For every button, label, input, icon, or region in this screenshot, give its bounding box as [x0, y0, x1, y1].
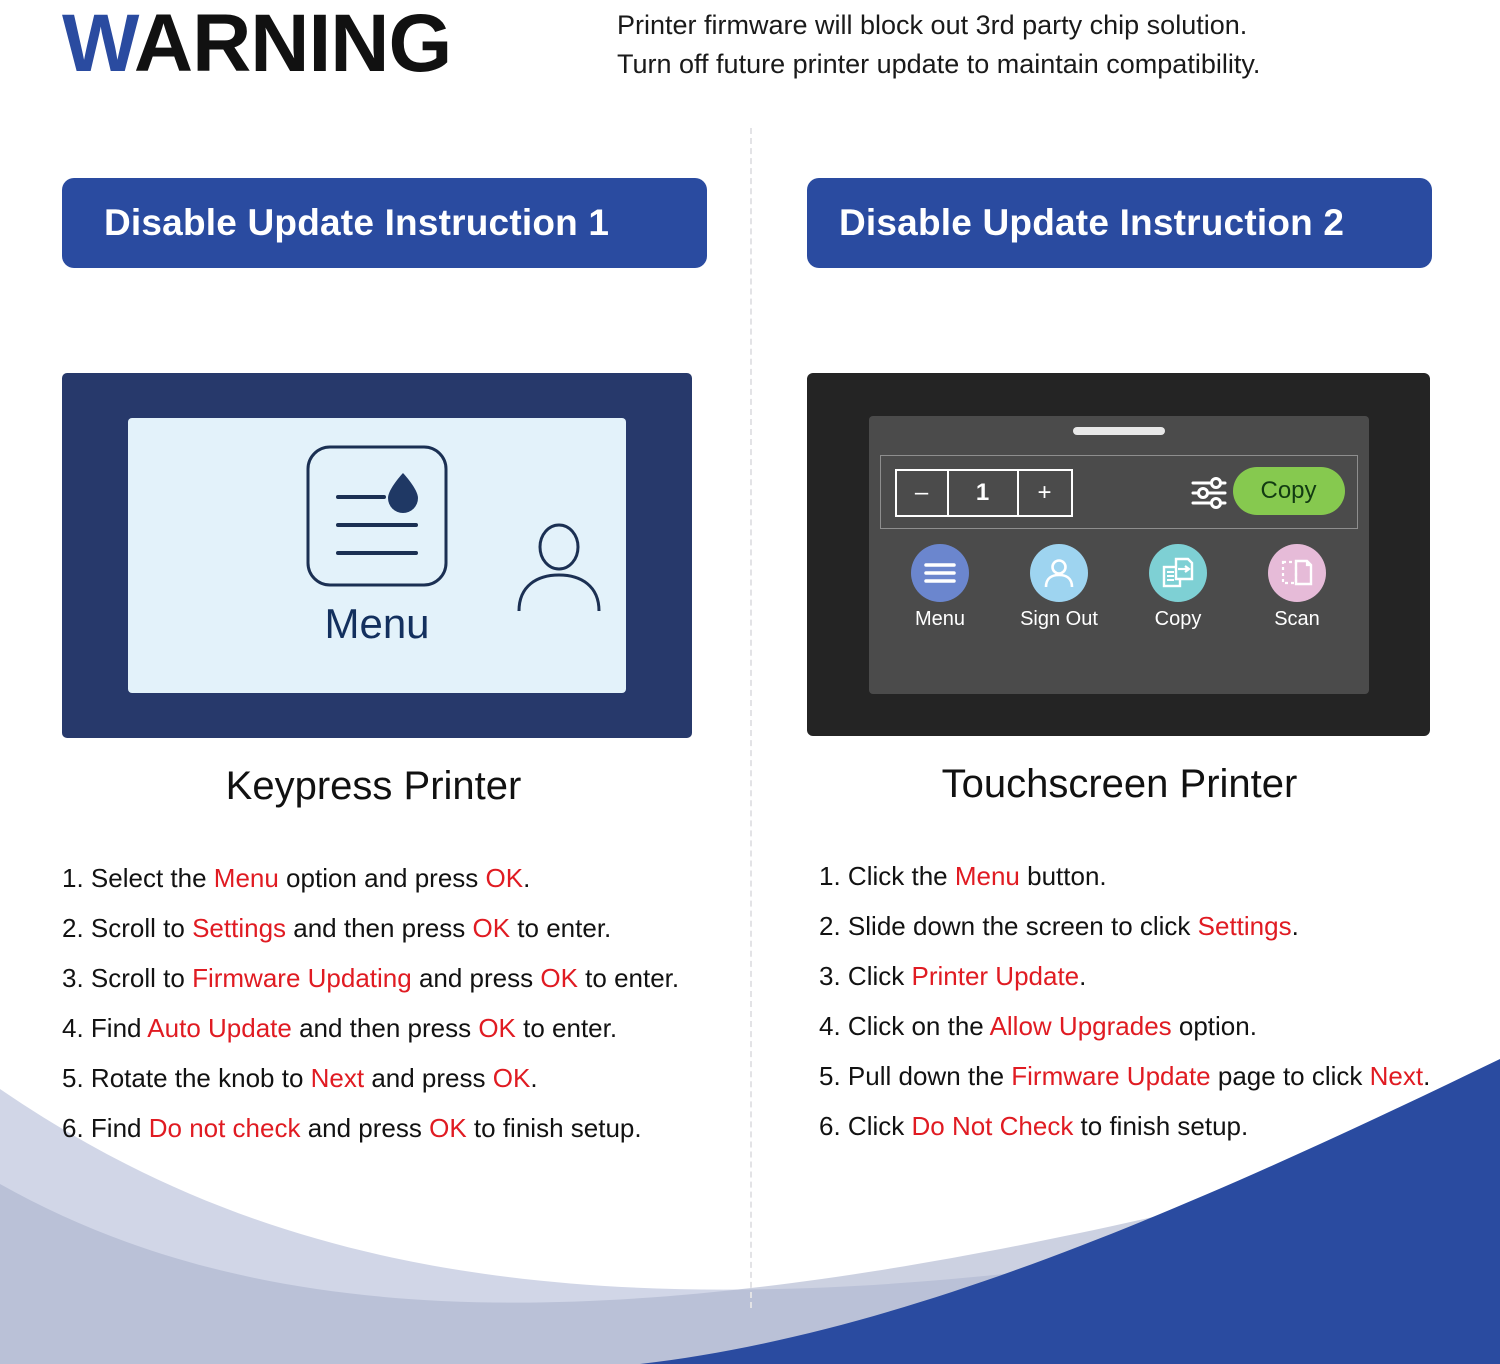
hamburger-menu-icon[interactable] — [911, 544, 969, 602]
warning-title-rest: ARNING — [134, 0, 451, 89]
instruction-text: and press — [364, 1063, 493, 1093]
instruction-text: to finish setup. — [1073, 1111, 1248, 1141]
touchscreen-printer-illustration: – 1 + — [807, 373, 1430, 736]
instruction-text: Rotate the knob to — [91, 1063, 311, 1093]
instruction-text: Select the — [91, 863, 214, 893]
instruction-keyword: Do Not Check — [911, 1111, 1073, 1141]
app-button-sign-out[interactable]: Sign Out — [1006, 544, 1112, 631]
instruction-step-number: 4. — [62, 1013, 91, 1043]
page-header: WARNING Printer firmware will block out … — [0, 0, 1500, 110]
warning-title-first-letter: W — [62, 0, 134, 89]
instruction-text: option and press — [279, 863, 486, 893]
instruction-text: to enter. — [578, 963, 679, 993]
instruction-text: . — [1079, 961, 1086, 991]
touchscreen-printer-caption: Touchscreen Printer — [807, 762, 1432, 807]
banner-instruction-1-label: Disable Update Instruction 1 — [104, 202, 609, 244]
instruction-text: to finish setup. — [467, 1113, 642, 1143]
app-button-scan-label: Scan — [1244, 608, 1350, 631]
instruction-list-2: 1. Click the Menu button. 2. Slide down … — [807, 851, 1432, 1151]
stepper-decrement-button[interactable]: – — [897, 471, 949, 515]
instruction-step-number: 1. — [62, 863, 91, 893]
instruction-step-number: 4. — [819, 1011, 848, 1041]
instruction-step: 1. Select the Menu option and press OK. — [62, 853, 707, 903]
touchscreen-top-row: – 1 + — [880, 455, 1358, 529]
instruction-text: Click the — [848, 861, 955, 891]
keypress-printer-illustration: Menu — [62, 373, 692, 738]
instruction-list-1: 1. Select the Menu option and press OK. … — [62, 853, 707, 1153]
header-note: Printer firmware will block out 3rd part… — [617, 6, 1447, 84]
instruction-text: page to click — [1211, 1061, 1370, 1091]
app-button-copy-label: Copy — [1125, 608, 1231, 631]
instruction-keyword: Settings — [192, 913, 286, 943]
keypress-menu-label: Menu — [128, 600, 626, 648]
instruction-keyword: Next — [1370, 1061, 1423, 1091]
app-button-menu-label: Menu — [887, 608, 993, 631]
banner-instruction-2: Disable Update Instruction 2 — [807, 178, 1432, 268]
instruction-step: 6. Click Do Not Check to finish setup. — [819, 1101, 1432, 1151]
instruction-step: 5. Pull down the Firmware Update page to… — [819, 1051, 1432, 1101]
app-button-sign-out-label: Sign Out — [1006, 608, 1112, 631]
warning-instruction-page: WARNING Printer firmware will block out … — [0, 0, 1500, 1364]
keypress-screen: Menu — [128, 418, 626, 693]
app-button-copy[interactable]: Copy — [1125, 544, 1231, 631]
instruction-text: . — [523, 863, 530, 893]
instruction-keyword: Firmware Update — [1011, 1061, 1210, 1091]
instruction-text: and press — [412, 963, 541, 993]
instruction-step: 3. Scroll to Firmware Updating and press… — [62, 953, 707, 1003]
instruction-keyword: OK — [486, 863, 524, 893]
copy-action-button[interactable]: Copy — [1233, 467, 1345, 515]
instruction-column-1: Disable Update Instruction 1 — [62, 178, 707, 1153]
instruction-text: option. — [1172, 1011, 1257, 1041]
instruction-step-number: 2. — [819, 911, 848, 941]
instruction-text: Find — [91, 1013, 147, 1043]
app-button-menu[interactable]: Menu — [887, 544, 993, 631]
instruction-text: . — [1292, 911, 1299, 941]
instruction-text: Click — [848, 1111, 912, 1141]
touchscreen-app-row: Menu Sign Out — [881, 544, 1357, 631]
instruction-keyword: OK — [478, 1013, 516, 1043]
instruction-keyword: Next — [311, 1063, 364, 1093]
instruction-step: 5. Rotate the knob to Next and press OK. — [62, 1053, 707, 1103]
instruction-keyword: OK — [493, 1063, 531, 1093]
stepper-increment-button[interactable]: + — [1019, 471, 1071, 515]
instruction-text: . — [530, 1063, 537, 1093]
instruction-keyword: Settings — [1198, 911, 1292, 941]
instruction-text: Slide down the screen to click — [848, 911, 1198, 941]
instruction-keyword: Printer Update — [911, 961, 1079, 991]
instruction-step: 4. Click on the Allow Upgrades option. — [819, 1001, 1432, 1051]
instruction-keyword: Allow Upgrades — [990, 1011, 1172, 1041]
warning-title: WARNING — [62, 0, 451, 94]
instruction-keyword: OK — [540, 963, 578, 993]
instruction-text: Scroll to — [91, 963, 192, 993]
instruction-step-number: 5. — [62, 1063, 91, 1093]
instruction-step: 1. Click the Menu button. — [819, 851, 1432, 901]
copies-stepper[interactable]: – 1 + — [895, 469, 1073, 517]
instruction-keyword: OK — [429, 1113, 467, 1143]
instruction-text: and then press — [286, 913, 472, 943]
settings-sliders-icon[interactable] — [1191, 476, 1227, 515]
instruction-step: 2. Slide down the screen to click Settin… — [819, 901, 1432, 951]
scan-document-icon[interactable] — [1268, 544, 1326, 602]
person-icon[interactable] — [1030, 544, 1088, 602]
instruction-step-number: 3. — [819, 961, 848, 991]
touchscreen-screen: – 1 + — [869, 416, 1369, 694]
banner-instruction-2-label: Disable Update Instruction 2 — [839, 202, 1344, 244]
instruction-keyword: Firmware Updating — [192, 963, 412, 993]
keypress-printer-caption: Keypress Printer — [62, 764, 707, 809]
instruction-keyword: Menu — [214, 863, 279, 893]
document-ink-icon — [306, 445, 448, 592]
instruction-step: 2. Scroll to Settings and then press OK … — [62, 903, 707, 953]
instruction-text: button. — [1020, 861, 1107, 891]
instruction-step: 4. Find Auto Update and then press OK to… — [62, 1003, 707, 1053]
instruction-column-2: Disable Update Instruction 2 – 1 + — [807, 178, 1432, 1151]
instruction-keyword: Menu — [955, 861, 1020, 891]
copy-action-button-label: Copy — [1260, 477, 1316, 505]
instruction-text: and then press — [292, 1013, 478, 1043]
instruction-text: Scroll to — [91, 913, 192, 943]
instruction-text: and press — [300, 1113, 429, 1143]
instruction-step-number: 5. — [819, 1061, 848, 1091]
instruction-text: Pull down the — [848, 1061, 1011, 1091]
instruction-step-number: 6. — [819, 1111, 848, 1141]
column-divider — [750, 128, 752, 1308]
header-note-line-1: Printer firmware will block out 3rd part… — [617, 6, 1447, 45]
banner-instruction-1: Disable Update Instruction 1 — [62, 178, 707, 268]
stepper-value: 1 — [949, 471, 1019, 515]
instruction-step: 6. Find Do not check and press OK to fin… — [62, 1103, 707, 1153]
app-button-scan[interactable]: Scan — [1244, 544, 1350, 631]
instruction-keyword: Do not check — [149, 1113, 301, 1143]
instruction-keyword: OK — [473, 913, 511, 943]
instruction-text: Find — [91, 1113, 149, 1143]
instruction-keyword: Auto Update — [147, 1013, 292, 1043]
instruction-step-number: 1. — [819, 861, 848, 891]
copy-document-icon[interactable] — [1149, 544, 1207, 602]
instruction-step-number: 2. — [62, 913, 91, 943]
instruction-text: to enter. — [516, 1013, 617, 1043]
instruction-text: . — [1423, 1061, 1430, 1091]
instruction-step-number: 3. — [62, 963, 91, 993]
instruction-text: Click on the — [848, 1011, 990, 1041]
instruction-step-number: 6. — [62, 1113, 91, 1143]
speaker-bar — [1073, 427, 1165, 435]
instruction-text: to enter. — [510, 913, 611, 943]
instruction-step: 3. Click Printer Update. — [819, 951, 1432, 1001]
header-note-line-2: Turn off future printer update to mainta… — [617, 45, 1447, 84]
instruction-text: Click — [848, 961, 912, 991]
